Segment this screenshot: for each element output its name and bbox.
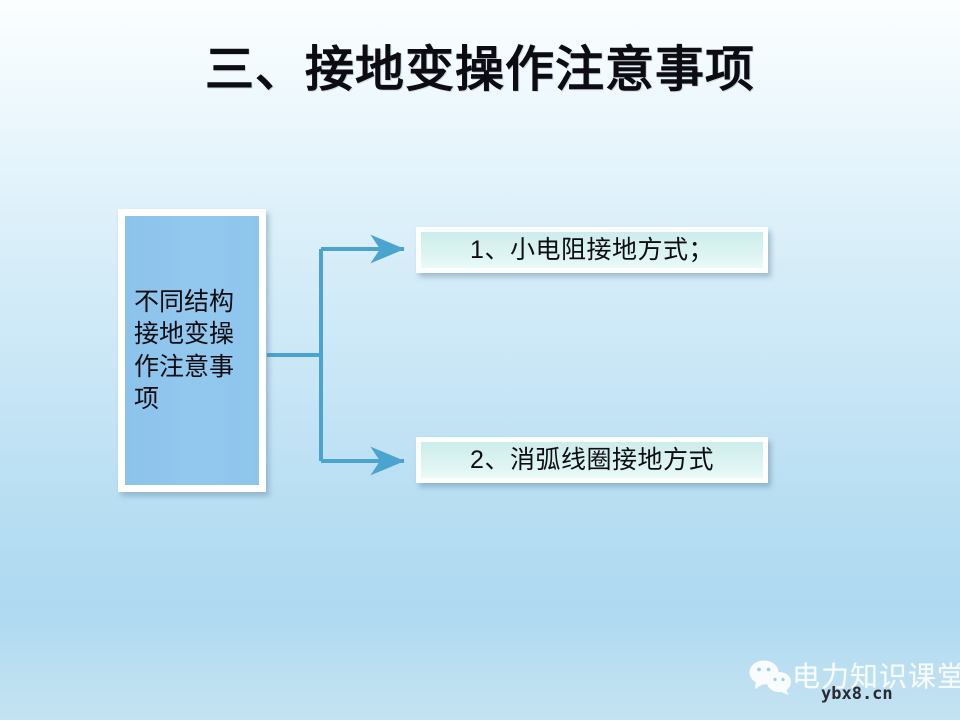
- diagram-branch-label-2: 2、消弧线圈接地方式: [470, 448, 714, 473]
- page-title: 三、接地变操作注意事项: [0, 42, 960, 98]
- slide-canvas: 三、接地变操作注意事项 不同结构接地变操作注意事项 1、小电阻接地方式； 2、消…: [0, 0, 960, 720]
- watermark-url-text: ybx8.cn: [821, 684, 893, 704]
- diagram-root-label: 不同结构接地变操作注意事项: [125, 286, 252, 416]
- diagram-branch-node-2[interactable]: 2、消弧线圈接地方式: [416, 437, 768, 483]
- diagram-branch-node-1[interactable]: 1、小电阻接地方式；: [416, 227, 768, 273]
- diagram-branch-label-1: 1、小电阻接地方式；: [470, 238, 714, 263]
- wechat-icon: [748, 658, 792, 696]
- watermark: 电力知识课堂 ybx8.cn: [742, 652, 957, 714]
- diagram-root-node[interactable]: 不同结构接地变操作注意事项: [118, 209, 266, 492]
